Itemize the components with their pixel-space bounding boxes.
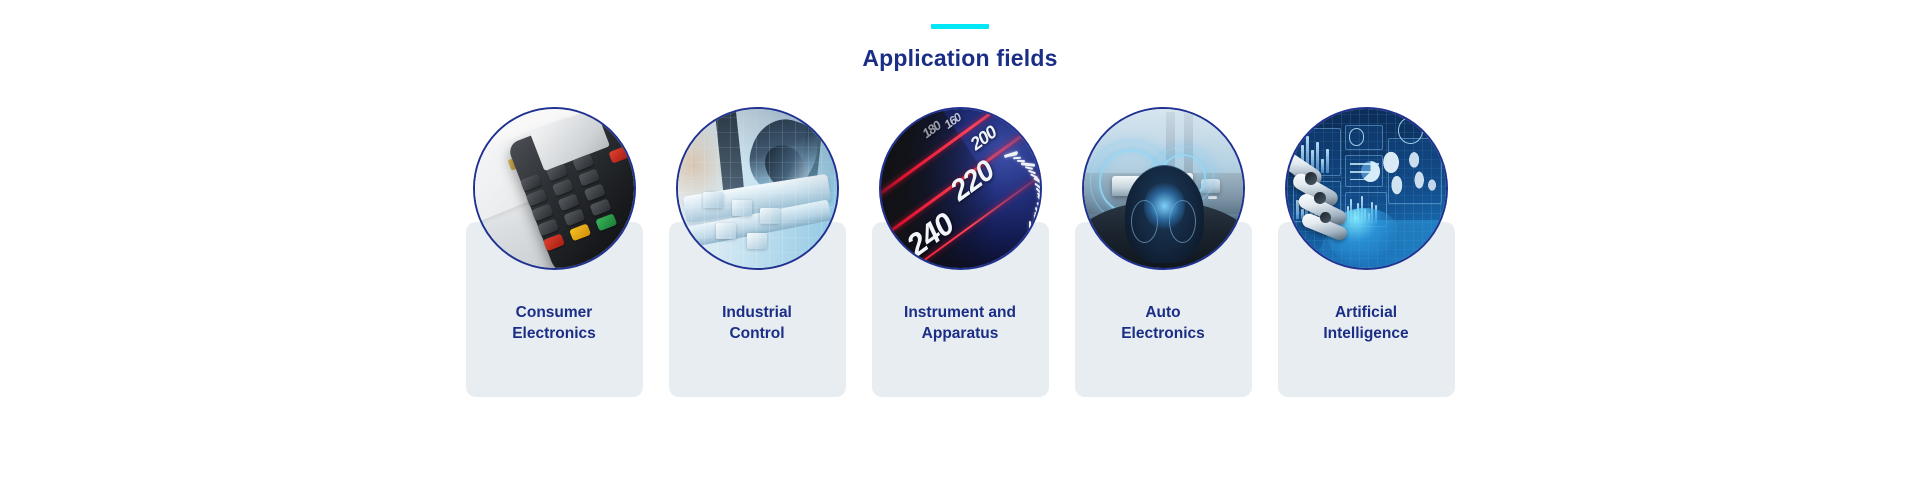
card-artificial-intelligence[interactable]: Artificial Intelligence (1278, 107, 1455, 397)
section-header: Application fields (0, 0, 1920, 72)
robot-hand (1285, 157, 1376, 256)
page-title: Application fields (0, 45, 1920, 72)
card-image-auto-electronics (1082, 107, 1245, 270)
card-consumer-electronics[interactable]: Consumer Electronics (466, 107, 643, 397)
card-label-instrument-and-apparatus: Instrument and Apparatus (872, 303, 1049, 344)
card-instrument-and-apparatus[interactable]: 180 160 200 220 240 Instrument and Appar… (872, 107, 1049, 397)
card-image-industrial-control (676, 107, 839, 270)
application-fields-card-row: Consumer Electronics (0, 107, 1920, 397)
card-industrial-control[interactable]: Industrial Control (669, 107, 846, 397)
card-auto-electronics[interactable]: Auto Electronics (1075, 107, 1252, 397)
card-image-consumer-electronics (473, 107, 636, 270)
accent-bar (931, 24, 989, 29)
card-label-industrial-control: Industrial Control (669, 303, 846, 344)
application-fields-section: Application fields Consumer Electronics (0, 0, 1920, 484)
card-label-artificial-intelligence: Artificial Intelligence (1278, 303, 1455, 344)
card-label-auto-electronics: Auto Electronics (1075, 303, 1252, 344)
pos-terminal-illustration (475, 109, 634, 268)
speedometer-illustration: 180 160 200 220 240 (881, 109, 1040, 268)
industrial-robot-illustration (678, 109, 837, 268)
card-label-consumer-electronics: Consumer Electronics (466, 303, 643, 344)
adas-hud-illustration (1084, 109, 1243, 268)
card-image-instrument-and-apparatus: 180 160 200 220 240 (879, 107, 1042, 270)
ai-dashboard-illustration (1287, 109, 1446, 268)
card-image-artificial-intelligence (1285, 107, 1448, 270)
